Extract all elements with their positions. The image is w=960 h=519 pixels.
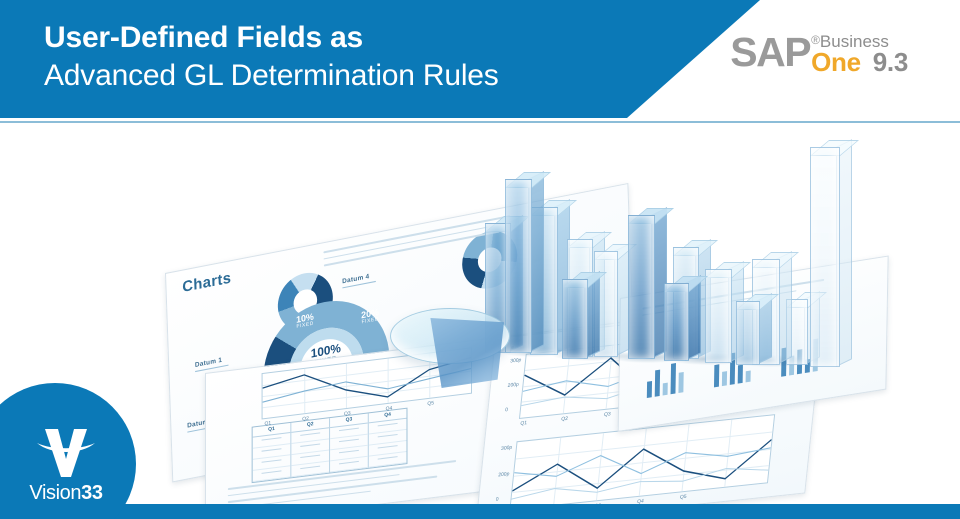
glass-bar-13: [810, 149, 838, 367]
vision33-logo-inner: Vision33: [0, 383, 136, 519]
vision33-logo-badge[interactable]: Vision33: [0, 383, 136, 519]
x-tick-label: Q3: [604, 411, 611, 418]
mini-bar-cluster-1: [647, 358, 684, 398]
hero-illustration: Charts 100% FIXED 30% FIXED 40% FIXED 20…: [0, 123, 960, 519]
x-tick-label: Q5: [680, 494, 687, 501]
x-tick-label: Q3: [344, 411, 351, 418]
sap-logo-right: ® Business One 9.3: [811, 33, 908, 75]
charts-sheet-heading: Charts: [182, 269, 232, 296]
sap-one-row: One 9.3: [811, 49, 908, 75]
glass-bar-6: [562, 281, 586, 359]
x-tick-label: Q2: [561, 416, 568, 423]
page-title-line-1: User-Defined Fields as: [44, 22, 499, 54]
x-tick-label: Q5: [427, 400, 434, 407]
x-tick-label: Q4: [386, 405, 393, 412]
slide-canvas: Charts 100% FIXED 30% FIXED 40% FIXED 20…: [0, 0, 960, 519]
footer-bar: [0, 504, 960, 519]
vision33-wordmark: Vision33: [29, 483, 102, 503]
sap-version-text: 9.3: [873, 49, 908, 75]
vision33-v-mark-icon: [35, 425, 97, 481]
glass-bar-9: [664, 285, 687, 361]
line-chart-lower: 300p 200p 0 Q1 Q2 Q3 Q4 Q5: [509, 414, 775, 510]
x-tick-label: Q2: [302, 416, 309, 423]
y-tick-label: 200p: [507, 382, 519, 389]
sap-business-one-logo: SAP ® Business One 9.3: [730, 33, 908, 75]
glass-bar-10: [705, 271, 730, 363]
leader-label-1: Datum 1: [195, 355, 229, 372]
page-title-line-2: Advanced GL Determination Rules: [44, 60, 499, 92]
x-tick-label: Q1: [520, 420, 527, 427]
y-tick-label: 0: [495, 496, 498, 502]
vision33-name-light: Vision: [29, 482, 81, 504]
glass-bar-7: [628, 217, 653, 359]
header-divider: [0, 121, 960, 123]
y-tick-label: 0: [505, 407, 508, 413]
leader-label-4: Datum 4: [342, 272, 376, 289]
glass-bar-12: [736, 303, 758, 365]
sap-one-text: One: [811, 49, 861, 75]
y-tick-label: 200p: [498, 471, 510, 478]
page-title: User-Defined Fields as Advanced GL Deter…: [44, 22, 499, 93]
y-tick-label: 300p: [501, 445, 513, 452]
registered-trademark-icon: ®: [811, 34, 820, 46]
glass-bar-2: [505, 181, 530, 353]
sap-brand-text: SAP: [730, 33, 810, 72]
vision33-name-bold: 33: [81, 482, 102, 504]
y-tick-label: 300p: [510, 357, 522, 364]
x-tick-label: Q1: [265, 420, 272, 427]
table-header-cell: Q2: [291, 418, 329, 433]
